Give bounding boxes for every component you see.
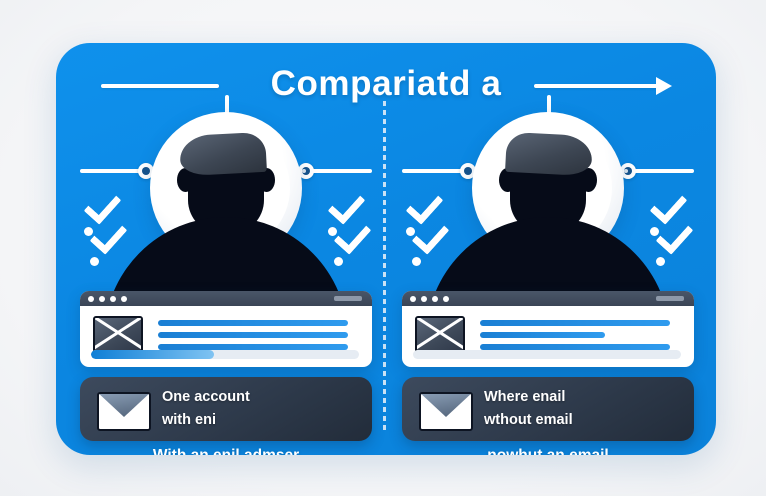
window-addressbar [656, 296, 684, 301]
comparison-card: Compariatd a [56, 43, 716, 455]
window-dot[interactable] [88, 296, 94, 302]
button-label: One account with eni [162, 386, 364, 432]
check-cluster-left [400, 193, 452, 279]
rail-dot-right [302, 169, 306, 173]
text-line [480, 320, 670, 326]
browser-window-card [402, 291, 694, 367]
envelope-icon [97, 392, 151, 431]
button-label: Where enail wthout email [484, 386, 686, 432]
accent-dot [412, 257, 421, 266]
window-dot[interactable] [421, 296, 427, 302]
rail-dot-right [624, 169, 628, 173]
envelope-flap [97, 392, 151, 417]
text-line [480, 332, 605, 338]
accent-dot [656, 257, 665, 266]
accent-dot [90, 257, 99, 266]
illustration-canvas: Compariatd a [0, 0, 766, 496]
accent-dot [334, 257, 343, 266]
window-dot[interactable] [110, 296, 116, 302]
button-label-line2: wthout email [484, 409, 686, 432]
window-titlebar [80, 291, 372, 306]
check-cluster-right [322, 193, 374, 279]
accent-dot [84, 227, 93, 236]
envelope-flap [419, 392, 473, 417]
envelope-icon [93, 316, 143, 353]
button-label-line2: with eni [162, 409, 364, 432]
panel-caption-right: nowhut an email [398, 447, 698, 455]
envelope-icon [419, 392, 473, 431]
email-account-button-left[interactable]: One account with eni [80, 377, 372, 441]
window-dot[interactable] [432, 296, 438, 302]
button-label-line1: Where enail [484, 386, 686, 409]
center-divider [383, 101, 386, 431]
window-dot[interactable] [443, 296, 449, 302]
panel-caption-left: With an enil admser [76, 447, 376, 455]
check-cluster-left [78, 193, 130, 279]
progress-bar [413, 350, 681, 359]
window-dot[interactable] [121, 296, 127, 302]
text-line [158, 332, 348, 338]
accent-dot [650, 227, 659, 236]
check-cluster-right [644, 193, 696, 279]
text-line [158, 320, 348, 326]
accent-dot [406, 227, 415, 236]
panel-right: Where enail wthout email nowhut an email [398, 95, 698, 447]
rail-bar-right [310, 169, 372, 173]
window-dot[interactable] [99, 296, 105, 302]
email-account-button-right[interactable]: Where enail wthout email [402, 377, 694, 441]
progress-fill [91, 350, 214, 359]
browser-window-card [80, 291, 372, 367]
button-label-line1: One account [162, 386, 364, 409]
window-body [402, 306, 694, 367]
window-body [80, 306, 372, 367]
accent-dot [328, 227, 337, 236]
panel-left: One account with eni With an enil admser [76, 95, 376, 447]
window-titlebar [402, 291, 694, 306]
rail-bar-left [80, 169, 142, 173]
envelope-icon [415, 316, 465, 353]
window-dot[interactable] [410, 296, 416, 302]
progress-bar [91, 350, 359, 359]
rail-bar-left [402, 169, 464, 173]
rail-bar-right [632, 169, 694, 173]
window-addressbar [334, 296, 362, 301]
